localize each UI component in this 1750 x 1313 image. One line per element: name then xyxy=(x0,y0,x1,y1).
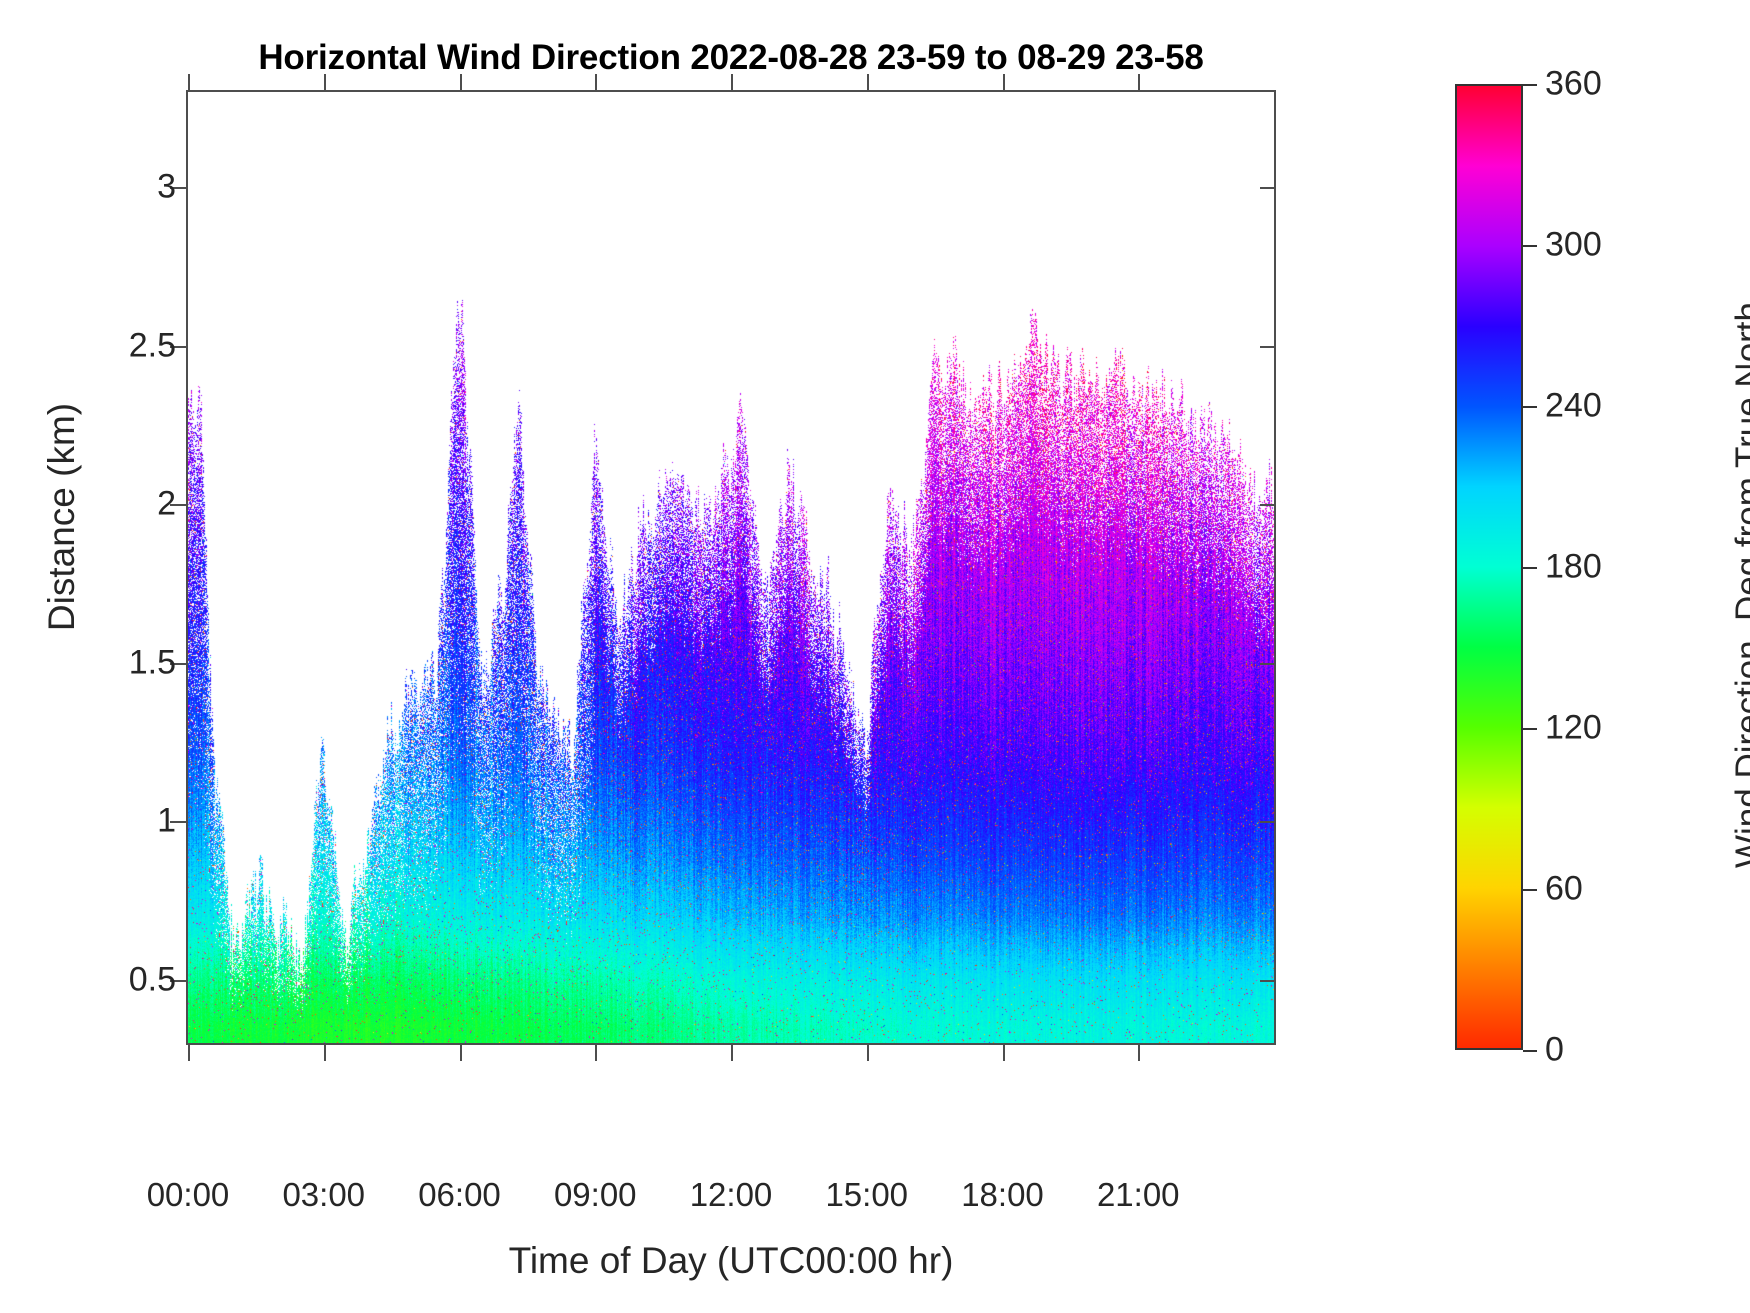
y-tick-right-0.5 xyxy=(1260,980,1276,982)
x-tick-18:00 xyxy=(1003,1045,1005,1061)
x-tick-top-21:00 xyxy=(1138,74,1140,90)
colorbar-tick-60 xyxy=(1523,889,1537,891)
y-tick-label: 0.5 xyxy=(129,960,176,999)
x-tick-top-00:00 xyxy=(188,74,190,90)
colorbar-tick-label: 60 xyxy=(1545,870,1583,909)
x-tick-label: 18:00 xyxy=(961,1176,1044,1214)
colorbar-tick-label: 300 xyxy=(1545,226,1602,265)
x-tick-top-12:00 xyxy=(731,74,733,90)
colorbar-tick-label: 240 xyxy=(1545,387,1602,426)
x-tick-label: 21:00 xyxy=(1097,1176,1180,1214)
y-tick-right-3 xyxy=(1260,187,1276,189)
colorbar-tick-300 xyxy=(1523,245,1537,247)
y-tick-label: 1 xyxy=(157,802,176,841)
x-tick-label: 12:00 xyxy=(690,1176,773,1214)
x-tick-label: 03:00 xyxy=(282,1176,365,1214)
colorbar-tick-120 xyxy=(1523,728,1537,730)
x-tick-top-06:00 xyxy=(460,74,462,90)
y-axis-title: Distance (km) xyxy=(41,337,83,697)
y-tick-label: 2 xyxy=(157,485,176,524)
plot-area xyxy=(186,90,1276,1045)
x-axis-title: Time of Day (UTC00:00 hr) xyxy=(186,1240,1276,1282)
x-tick-06:00 xyxy=(460,1045,462,1061)
x-tick-top-15:00 xyxy=(867,74,869,90)
x-tick-00:00 xyxy=(188,1045,190,1061)
x-tick-label: 09:00 xyxy=(554,1176,637,1214)
y-tick-label: 2.5 xyxy=(129,326,176,365)
x-tick-top-03:00 xyxy=(324,74,326,90)
x-tick-21:00 xyxy=(1138,1045,1140,1061)
x-tick-03:00 xyxy=(324,1045,326,1061)
y-tick-label: 1.5 xyxy=(129,643,176,682)
x-tick-top-18:00 xyxy=(1003,74,1005,90)
y-tick-right-1.5 xyxy=(1260,663,1276,665)
wind-direction-heatmap xyxy=(188,92,1274,1043)
y-tick-right-1 xyxy=(1260,821,1276,823)
colorbar-tick-180 xyxy=(1523,567,1537,569)
x-tick-12:00 xyxy=(731,1045,733,1061)
x-tick-top-09:00 xyxy=(595,74,597,90)
figure-root: Horizontal Wind Direction 2022-08-28 23-… xyxy=(0,0,1750,1313)
colorbar-tick-label: 360 xyxy=(1545,65,1602,104)
colorbar-tick-label: 0 xyxy=(1545,1031,1564,1070)
x-tick-09:00 xyxy=(595,1045,597,1061)
x-tick-label: 00:00 xyxy=(147,1176,230,1214)
y-tick-right-2.5 xyxy=(1260,346,1276,348)
colorbar-title: Wind Direction, Deg from True North xyxy=(1729,235,1750,935)
x-tick-label: 06:00 xyxy=(418,1176,501,1214)
x-tick-15:00 xyxy=(867,1045,869,1061)
y-tick-label: 3 xyxy=(157,168,176,207)
colorbar-tick-label: 180 xyxy=(1545,548,1602,587)
y-tick-right-2 xyxy=(1260,504,1276,506)
colorbar-tick-0 xyxy=(1523,1050,1537,1052)
colorbar-tick-240 xyxy=(1523,406,1537,408)
colorbar-gradient xyxy=(1455,84,1523,1050)
colorbar-tick-360 xyxy=(1523,84,1537,86)
x-tick-label: 15:00 xyxy=(825,1176,908,1214)
chart-title: Horizontal Wind Direction 2022-08-28 23-… xyxy=(186,38,1276,78)
colorbar-tick-label: 120 xyxy=(1545,709,1602,748)
colorbar xyxy=(1455,84,1523,1050)
